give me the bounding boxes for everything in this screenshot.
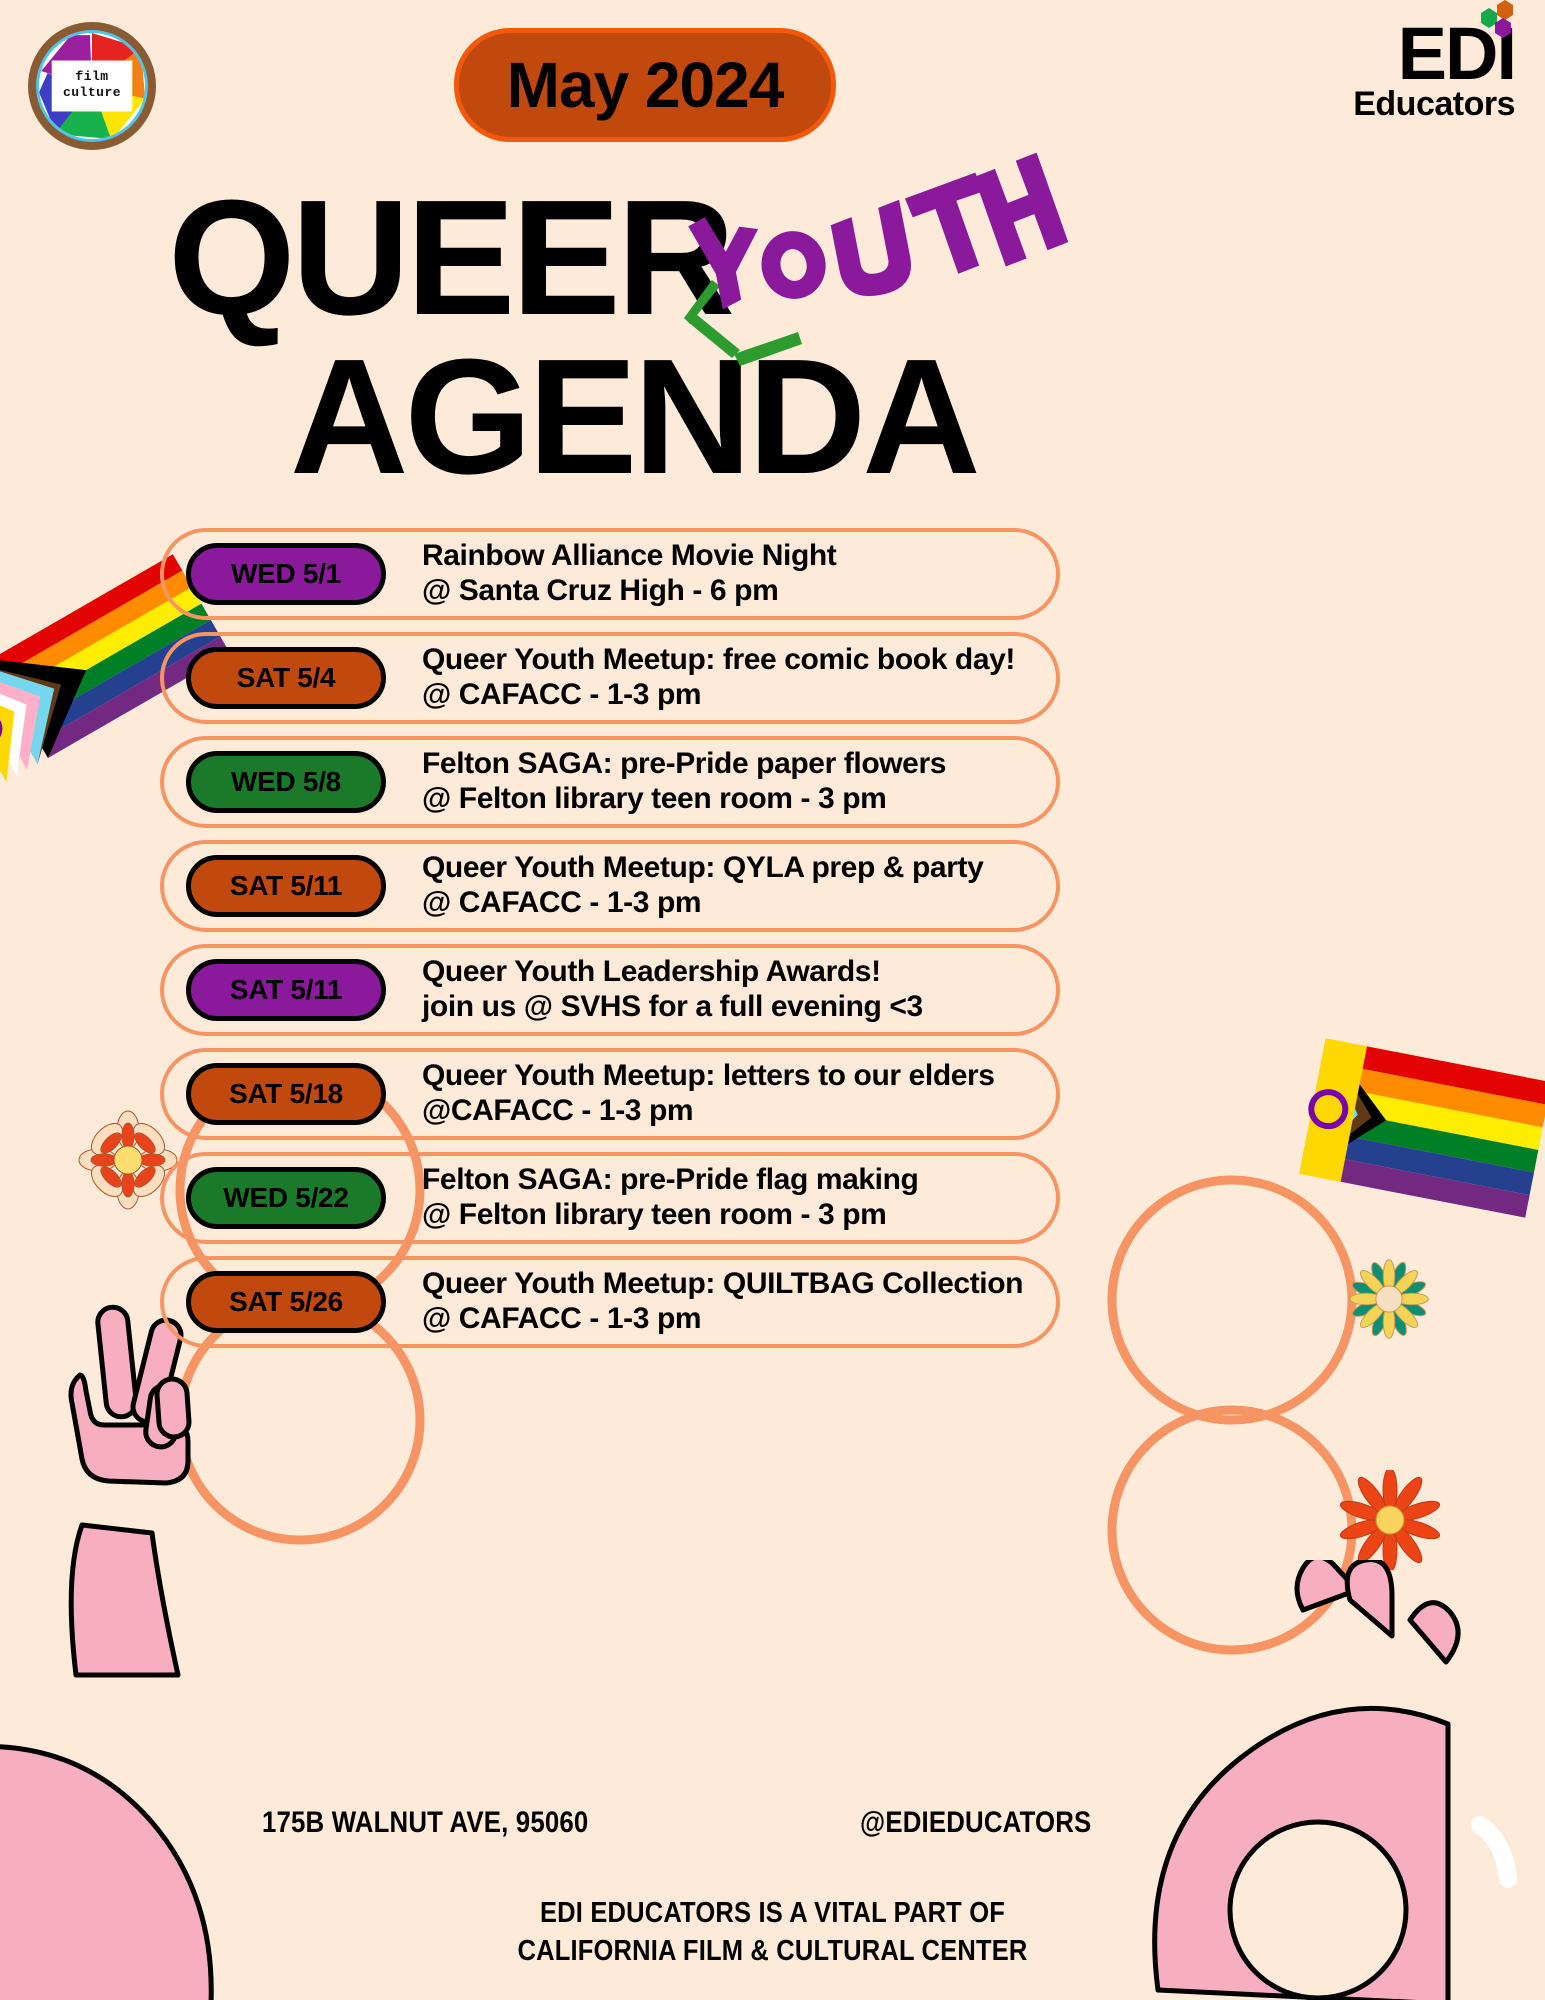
event-details: Rainbow Alliance Movie Night @ Santa Cru…: [422, 539, 836, 609]
event-date-label: SAT 5/11: [230, 870, 342, 902]
event-location: @CAFACC - 1-3 pm: [422, 1094, 995, 1129]
event-title: Queer Youth Leadership Awards!: [422, 955, 923, 990]
event-date-badge: WED 5/22: [186, 1167, 386, 1229]
event-row[interactable]: SAT 5/11 Queer Youth Meetup: QYLA prep &…: [160, 840, 1060, 932]
event-title: Rainbow Alliance Movie Night: [422, 539, 836, 574]
event-details: Queer Youth Meetup: QUILTBAG Collection …: [422, 1267, 1023, 1337]
logo-text-line2: culture: [39, 85, 145, 101]
footer-credit-line1: EDI EDUCATORS IS A VITAL PART OF: [93, 1894, 1453, 1932]
event-title: Felton SAGA: pre-Pride paper flowers: [422, 747, 946, 782]
event-date-label: WED 5/22: [223, 1182, 348, 1214]
event-row[interactable]: WED 5/22 Felton SAGA: pre-Pride flag mak…: [160, 1152, 1060, 1244]
event-row[interactable]: SAT 5/11 Queer Youth Leadership Awards! …: [160, 944, 1060, 1036]
logo-text: film culture: [39, 69, 145, 102]
event-details: Queer Youth Meetup: letters to our elder…: [422, 1059, 995, 1129]
edi-educators-logo: EDI Educators: [1353, 24, 1515, 121]
event-title: Queer Youth Meetup: QYLA prep & party: [422, 851, 983, 886]
edi-wordmark: EDI: [1398, 24, 1515, 85]
event-title: Felton SAGA: pre-Pride flag making: [422, 1163, 918, 1198]
event-date-badge: SAT 5/11: [186, 959, 386, 1021]
event-date-badge: WED 5/8: [186, 751, 386, 813]
footer-credit: EDI EDUCATORS IS A VITAL PART OF CALIFOR…: [0, 1894, 1545, 1971]
footer-contact-row: 175B WALNUT AVE, 95060 @EDIEDUCATORS: [0, 1806, 1545, 1858]
logo-text-line1: film: [39, 69, 145, 85]
event-details: Queer Youth Meetup: free comic book day!…: [422, 643, 1015, 713]
events-list: WED 5/1 Rainbow Alliance Movie Night @ S…: [160, 528, 1060, 1360]
event-details: Felton SAGA: pre-Pride flag making @ Fel…: [422, 1163, 918, 1233]
event-date-badge: SAT 5/11: [186, 855, 386, 917]
event-location: @ Felton library teen room - 3 pm: [422, 1198, 918, 1233]
footer-address: 175B WALNUT AVE, 95060: [262, 1806, 588, 1840]
poster-title: QUEER AGENDA: [0, 160, 1545, 490]
event-date-badge: SAT 5/4: [186, 647, 386, 709]
footer-social-handle: @EDIEDUCATORS: [860, 1806, 1091, 1840]
poster-footer: 175B WALNUT AVE, 95060 @EDIEDUCATORS EDI…: [0, 1806, 1545, 1971]
aperture-icon: film culture: [39, 33, 145, 139]
daisy-orange-icon: [1340, 1470, 1440, 1570]
title-queer: QUEER: [168, 176, 731, 340]
event-date-label: SAT 5/18: [229, 1078, 343, 1110]
event-location: @ Santa Cruz High - 6 pm: [422, 574, 836, 609]
event-location: @ CAFACC - 1-3 pm: [422, 1302, 1023, 1337]
event-row[interactable]: SAT 5/26 Queer Youth Meetup: QUILTBAG Co…: [160, 1256, 1060, 1348]
title-youth-accent: [672, 162, 1032, 382]
event-date-label: WED 5/8: [231, 766, 341, 798]
event-row[interactable]: WED 5/1 Rainbow Alliance Movie Night @ S…: [160, 528, 1060, 620]
event-location: @ CAFACC - 1-3 pm: [422, 678, 1015, 713]
event-row[interactable]: SAT 5/4 Queer Youth Meetup: free comic b…: [160, 632, 1060, 724]
month-badge: May 2024: [454, 28, 836, 142]
poster-canvas: film culture EDI Educators May 2024 QUEE…: [0, 0, 1545, 2000]
event-date-badge: WED 5/1: [186, 543, 386, 605]
event-date-label: SAT 5/26: [229, 1286, 343, 1318]
event-date-label: SAT 5/11: [230, 974, 342, 1006]
event-location: join us @ SVHS for a full evening <3: [422, 990, 923, 1025]
event-row[interactable]: SAT 5/18 Queer Youth Meetup: letters to …: [160, 1048, 1060, 1140]
event-details: Queer Youth Leadership Awards! join us @…: [422, 955, 923, 1025]
hexagon-dots-icon: [1459, 0, 1519, 44]
event-row[interactable]: WED 5/8 Felton SAGA: pre-Pride paper flo…: [160, 736, 1060, 828]
event-date-badge: SAT 5/26: [186, 1271, 386, 1333]
event-title: Queer Youth Meetup: free comic book day!: [422, 643, 1015, 678]
film-culture-logo: film culture: [28, 22, 156, 150]
footer-credit-line2: CALIFORNIA FILM & CULTURAL CENTER: [93, 1932, 1453, 1970]
event-date-label: WED 5/1: [231, 558, 341, 590]
event-date-badge: SAT 5/18: [186, 1063, 386, 1125]
event-title: Queer Youth Meetup: letters to our elder…: [422, 1059, 995, 1094]
daisy-yellow-teal-icon: [1348, 1258, 1430, 1340]
month-badge-label: May 2024: [507, 48, 784, 122]
event-details: Felton SAGA: pre-Pride paper flowers @ F…: [422, 747, 946, 817]
event-location: @ CAFACC - 1-3 pm: [422, 886, 983, 921]
event-location: @ Felton library teen room - 3 pm: [422, 782, 946, 817]
event-title: Queer Youth Meetup: QUILTBAG Collection: [422, 1267, 1023, 1302]
progress-pride-flag-right: [1290, 1030, 1545, 1230]
event-date-label: SAT 5/4: [237, 662, 336, 694]
event-details: Queer Youth Meetup: QYLA prep & party @ …: [422, 851, 983, 921]
